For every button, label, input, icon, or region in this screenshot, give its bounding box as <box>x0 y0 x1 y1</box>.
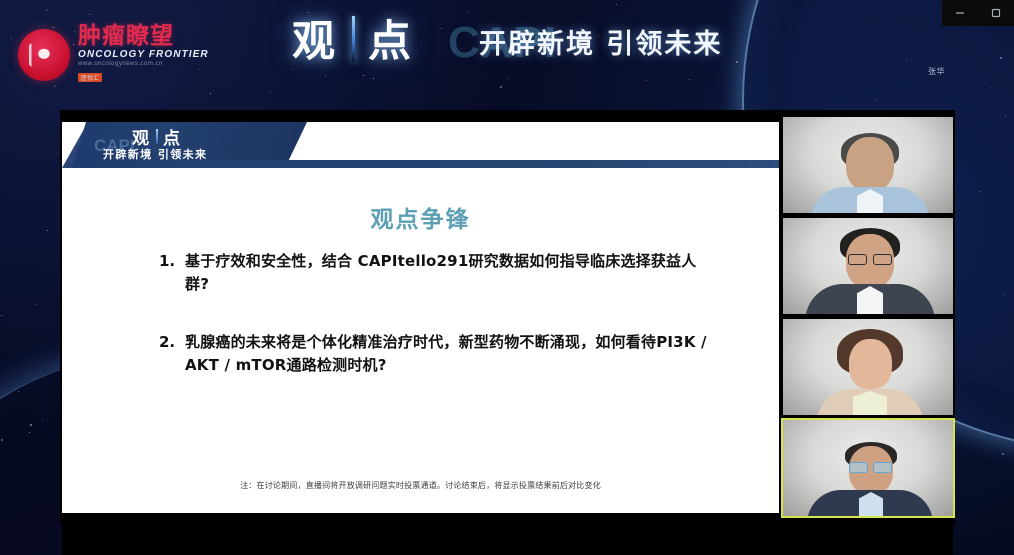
shared-slide[interactable]: CAPI 观 点 开辟新境 引领未来 观点争锋 1. 基于疗效和安全性，结合 C… <box>62 122 779 513</box>
slide-banner-subtitle: 开辟新境 引领未来 <box>103 146 207 162</box>
question-number: 1. <box>159 250 185 297</box>
list-item: 2. 乳腺癌的未来将是个体化精准治疗时代，新型药物不断涌现，如何看待PI3K /… <box>159 331 719 378</box>
header-title-block: 观 点 开辟新境 引领未来 <box>292 16 722 64</box>
slide-banner: CAPI 观 点 开辟新境 引领未来 <box>62 122 779 172</box>
video-feed <box>783 420 953 516</box>
presentation-stage: CAPI 观 点 开辟新境 引领未来 观点争锋 1. 基于疗效和安全性，结合 C… <box>60 110 955 525</box>
header-title-left: 观 <box>292 21 339 64</box>
participant-tile-4[interactable] <box>781 418 955 518</box>
video-feed <box>783 319 953 415</box>
glasses-icon <box>849 462 868 473</box>
video-feed <box>783 218 953 314</box>
slide-banner-rule <box>147 160 779 168</box>
glasses-icon <box>873 462 892 473</box>
slide-question-list: 1. 基于疗效和安全性，结合 CAPItello291研究数据如何指导临床选择获… <box>159 250 719 411</box>
stage-letterbox-bottom <box>62 525 953 555</box>
brand-name-en: ONCOLOGY FRONTIER <box>78 49 209 60</box>
slide-footnote: 注：在讨论期间，直播间将开放调研问题实时投票通道。讨论结束后，将显示投票结果前后… <box>62 480 779 491</box>
restore-icon[interactable] <box>985 3 1007 23</box>
participant-tile-3[interactable] <box>781 317 955 417</box>
brand-logo: 肿瘤瞭望 ONCOLOGY FRONTIER www.oncologynews.… <box>18 24 209 85</box>
window-controls <box>942 0 1014 26</box>
glasses-icon <box>873 254 892 265</box>
slide-banner-title-divider <box>156 129 158 144</box>
glasses-icon <box>848 254 867 265</box>
avatar <box>846 137 894 191</box>
participant-tile-2[interactable] <box>781 216 955 316</box>
question-text: 乳腺癌的未来将是个体化精准治疗时代，新型药物不断涌现，如何看待PI3K / AK… <box>185 331 719 378</box>
list-item: 1. 基于疗效和安全性，结合 CAPItello291研究数据如何指导临床选择获… <box>159 250 719 297</box>
brand-logo-text: 肿瘤瞭望 ONCOLOGY FRONTIER www.oncologynews.… <box>78 24 209 85</box>
participant-video-strip <box>781 115 955 522</box>
question-text: 基于疗效和安全性，结合 CAPItello291研究数据如何指导临床选择获益人群… <box>185 250 719 297</box>
crab-emblem-icon <box>18 29 70 81</box>
header-title-right: 点 <box>368 21 415 64</box>
broadcast-header: 肿瘤瞭望 ONCOLOGY FRONTIER www.oncologynews.… <box>0 0 1014 104</box>
meeting-screen: 肿瘤瞭望 ONCOLOGY FRONTIER www.oncologynews.… <box>0 0 1014 555</box>
avatar <box>849 339 892 389</box>
header-subtitle: 开辟新境 引领未来 <box>479 22 722 61</box>
video-feed <box>783 117 953 213</box>
participant-tile-1[interactable] <box>781 115 955 215</box>
brand-chip: 医悦汇 <box>78 73 102 82</box>
minimize-icon[interactable] <box>949 3 971 23</box>
slide-title: 观点争锋 <box>62 200 779 234</box>
question-number: 2. <box>159 331 185 378</box>
brand-name-cn: 肿瘤瞭望 <box>78 24 209 48</box>
header-title-divider <box>352 16 355 62</box>
brand-site: www.oncologynews.com.cn <box>78 61 209 67</box>
corner-name-label: 张华 <box>928 66 945 77</box>
